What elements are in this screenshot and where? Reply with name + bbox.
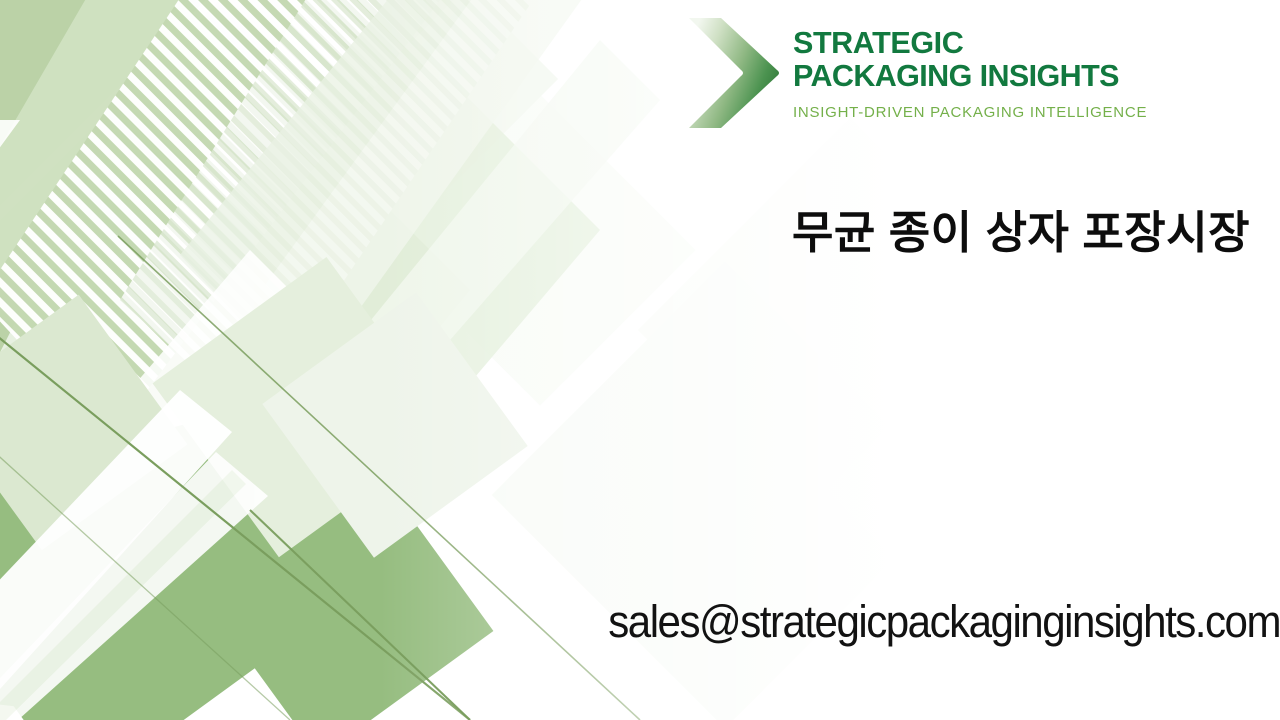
brand-wordmark: STRATEGIC PACKAGING INSIGHTS (793, 27, 1147, 93)
report-cover-slide: STRATEGIC PACKAGING INSIGHTS INSIGHT-DRI… (0, 0, 1280, 720)
brand-wordmark-line2: PACKAGING INSIGHTS (793, 60, 1147, 93)
chevron-arrow-logo-icon (681, 12, 785, 134)
contact-email[interactable]: sales@strategicpackaginginsights.com (111, 596, 1280, 648)
brand-tagline: INSIGHT-DRIVEN PACKAGING INTELLIGENCE (793, 104, 1147, 121)
page-title: 무균 종이 상자 포장시장 (430, 204, 1250, 262)
brand-text-block: STRATEGIC PACKAGING INSIGHTS INSIGHT-DRI… (793, 12, 1147, 121)
brand-wordmark-line1: STRATEGIC (793, 27, 1147, 60)
brand-logo-lockup: STRATEGIC PACKAGING INSIGHTS INSIGHT-DRI… (681, 12, 1191, 134)
